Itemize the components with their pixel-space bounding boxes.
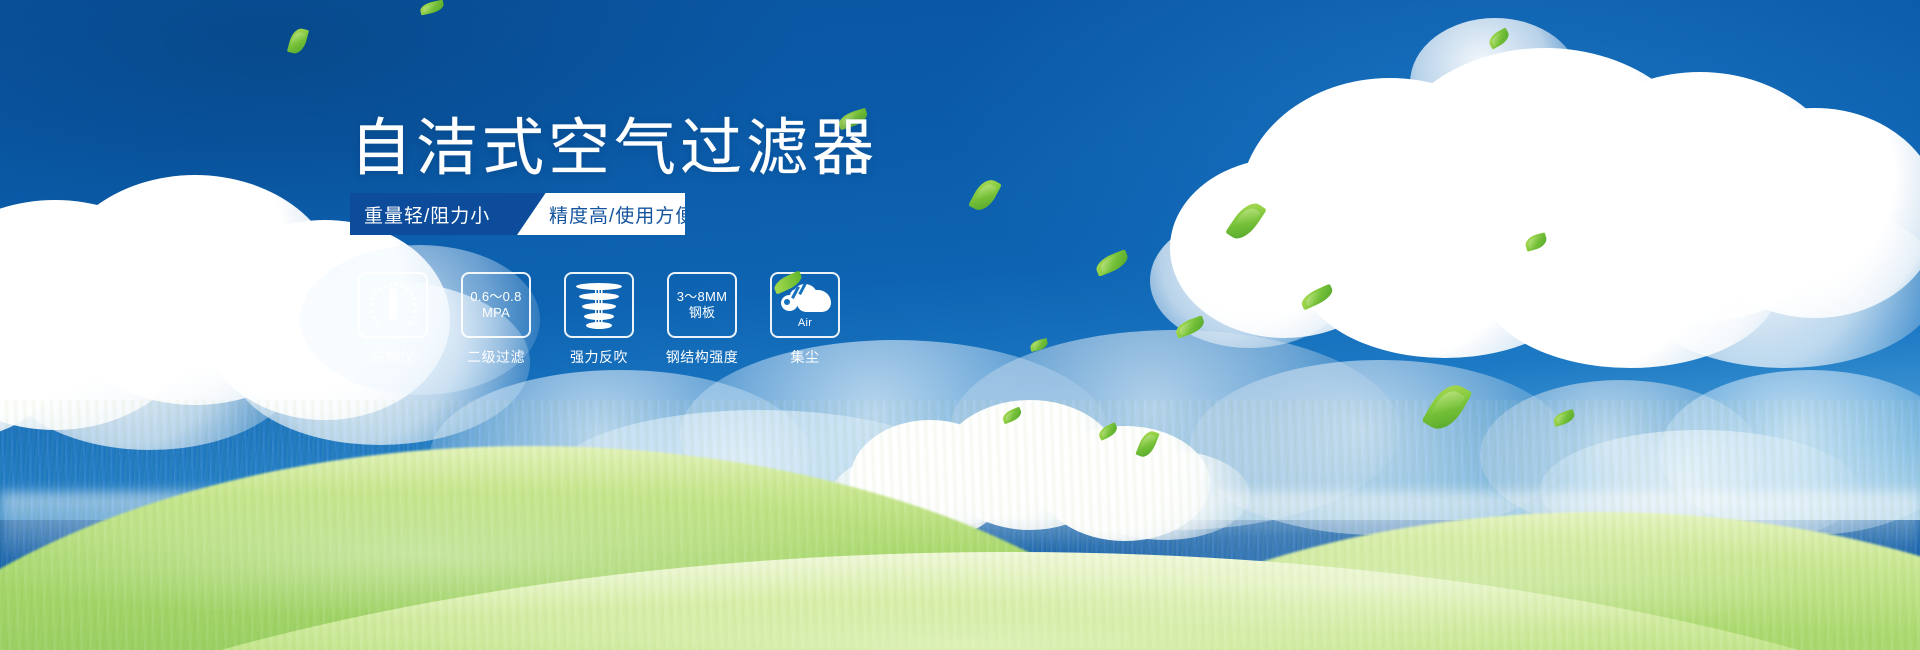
gauge-needle: [389, 288, 397, 321]
feature-icon-row: NO OFF 控制仪 0.6～0.8 MPA 二级过滤: [358, 272, 840, 367]
subtitle-right-text: 精度高/使用方便: [549, 201, 695, 228]
feature-item-blowback[interactable]: 强力反吹: [564, 272, 634, 367]
cloud-air-icon: Air: [777, 282, 833, 328]
banner-content: 自洁式空气过滤器 重量轻/阻力小 精度高/使用方便: [0, 0, 1920, 650]
feature-box: [564, 272, 634, 338]
pressure-text-icon-line1: 0.6～0.8: [470, 289, 521, 305]
feature-box: 0.6～0.8 MPA: [461, 272, 531, 338]
page-title: 自洁式空气过滤器: [350, 112, 878, 184]
feature-label: 集尘: [791, 347, 820, 367]
subtitle-left-badge: 重量轻/阻力小: [350, 193, 550, 235]
filter-stack-icon: [576, 281, 622, 329]
gauge-dial-icon: NO OFF: [365, 281, 421, 329]
feature-item-controller[interactable]: NO OFF 控制仪: [358, 272, 428, 367]
product-hero-banner: 自洁式空气过滤器 重量轻/阻力小 精度高/使用方便: [0, 0, 1920, 650]
feature-box: Air: [770, 272, 840, 338]
subtitle-left-text: 重量轻/阻力小: [364, 201, 490, 228]
air-label: Air: [777, 315, 833, 331]
feature-item-steel[interactable]: 3～8MM 钢板 钢结构强度: [667, 272, 737, 367]
gauge-min-label: NO: [366, 305, 375, 321]
feature-label: 二级过滤: [467, 347, 525, 367]
feature-box: NO OFF: [358, 272, 428, 338]
feature-label: 强力反吹: [570, 347, 628, 367]
feature-label: 钢结构强度: [666, 347, 739, 367]
feature-item-dust[interactable]: Air 集尘: [770, 272, 840, 367]
feature-label: 控制仪: [371, 347, 415, 367]
steel-plate-text-icon-line1: 3～8MM: [677, 289, 728, 305]
pressure-text-icon-line2: MPA: [482, 305, 510, 321]
feature-box: 3～8MM 钢板: [667, 272, 737, 338]
subtitle-right-badge: 精度高/使用方便: [517, 193, 685, 235]
gauge-max-label: OFF: [408, 317, 420, 333]
steel-plate-text-icon-line2: 钢板: [689, 305, 716, 321]
feature-item-pressure[interactable]: 0.6～0.8 MPA 二级过滤: [461, 272, 531, 367]
